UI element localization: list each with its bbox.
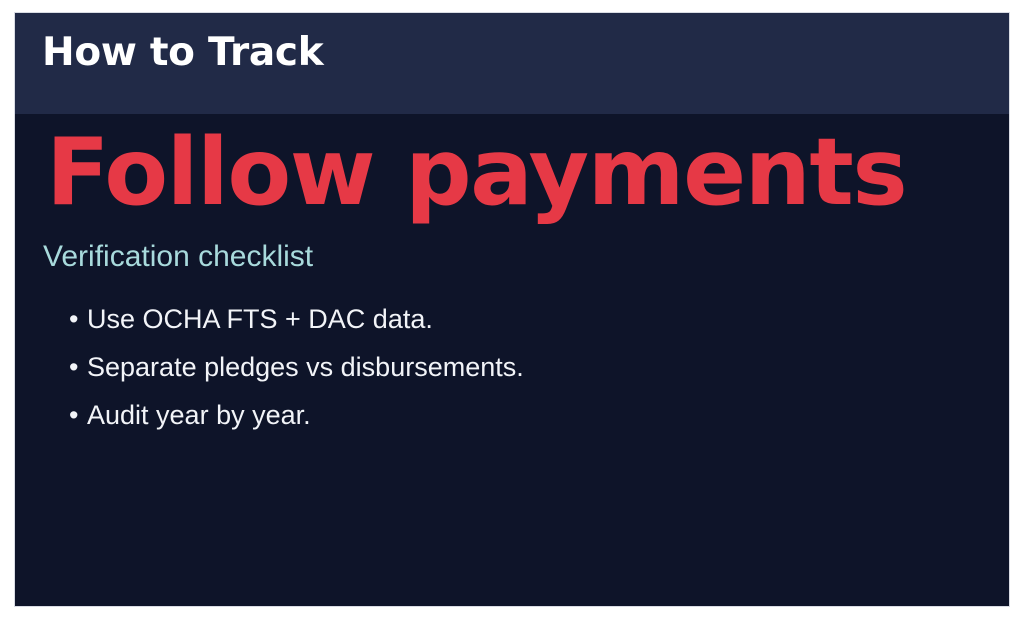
bullet-point-icon: • [69, 354, 78, 381]
list-item: • Audit year by year. [69, 402, 524, 429]
list-item-label: Audit year by year. [87, 400, 311, 430]
bullet-point-icon: • [69, 402, 78, 429]
bullet-list: • Use OCHA FTS + DAC data. • Separate pl… [69, 306, 524, 429]
slide-body: Follow payments Verification checklist •… [15, 114, 1009, 606]
bullet-point-icon: • [69, 306, 78, 333]
list-item: • Separate pledges vs disbursements. [69, 354, 524, 381]
slide-eyebrow-heading: How to Track [42, 29, 323, 77]
list-item-label: Separate pledges vs disbursements. [87, 352, 524, 382]
slide: How to Track Follow payments Verificatio… [14, 12, 1010, 607]
list-item-label: Use OCHA FTS + DAC data. [87, 304, 433, 334]
slide-subtitle: Verification checklist [43, 238, 313, 276]
list-item: • Use OCHA FTS + DAC data. [69, 306, 524, 333]
slide-header-band: How to Track [15, 13, 1009, 114]
slide-title: Follow payments [46, 120, 906, 224]
